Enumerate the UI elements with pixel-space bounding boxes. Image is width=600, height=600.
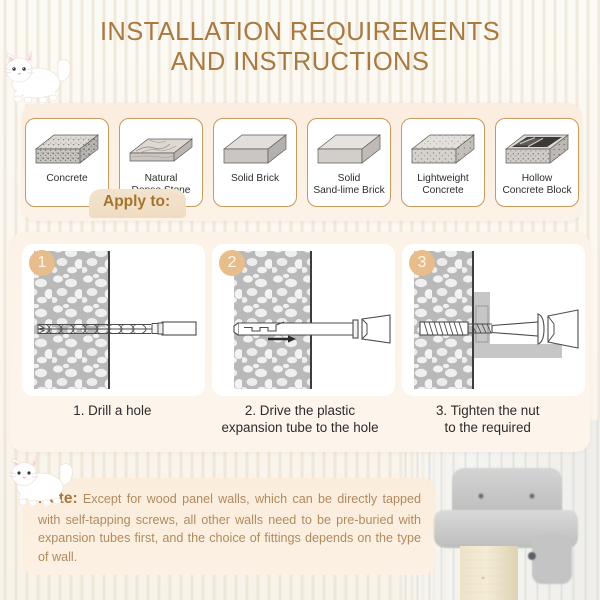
step-card-list: 1 2	[22, 244, 585, 396]
step-caption: 2. Drive the plasticexpansion tube to th…	[210, 402, 391, 436]
material-card[interactable]: Solid Brick	[213, 118, 297, 207]
sand-lime-brick-icon	[314, 126, 384, 170]
step-card[interactable]: 1	[22, 244, 205, 396]
material-card-label: SolidSand-lime Brick	[313, 173, 384, 197]
material-card[interactable]: SolidSand-lime Brick	[307, 118, 391, 207]
material-card-label: Concrete	[46, 173, 87, 185]
material-card[interactable]: HollowConcrete Block	[495, 118, 579, 207]
step-caption: 3. Tighten the nutto the required	[397, 402, 578, 436]
step-caption: 1. Drill a hole	[22, 402, 203, 436]
material-card-label: HollowConcrete Block	[502, 173, 571, 197]
cat-tree-perch-photo	[428, 452, 598, 600]
step-card[interactable]: 2	[212, 244, 395, 396]
material-card[interactable]: LightweightConcrete	[401, 118, 485, 207]
page-title-line-2: AND INSTRUCTIONS	[0, 48, 600, 78]
hollow-concrete-block-icon	[502, 126, 572, 170]
step-number-badge: 1	[29, 250, 55, 276]
step-number-badge: 3	[409, 250, 435, 276]
lightweight-concrete-icon	[408, 126, 478, 170]
page-title-line-1: INSTALLATION REQUIREMENTS	[0, 18, 600, 48]
white-cat-illustration	[8, 452, 80, 510]
natural-stone-slab-icon	[126, 126, 196, 170]
note-panel: Note: Except for wood panel walls, which…	[22, 478, 435, 575]
step-caption-list: 1. Drill a hole 2. Drive the plasticexpa…	[22, 402, 578, 436]
apply-to-label: Apply to:	[89, 189, 186, 218]
note-body: Except for wood panel walls, which can b…	[38, 492, 421, 564]
solid-brick-icon	[220, 126, 290, 170]
white-cat-illustration	[2, 46, 80, 108]
page-title: INSTALLATION REQUIREMENTS AND INSTRUCTIO…	[0, 18, 600, 77]
material-card-label: Solid Brick	[231, 173, 279, 185]
concrete-block-icon	[32, 126, 102, 170]
apply-to-panel: Concrete NaturalDense Stone	[22, 103, 582, 221]
step-number-badge: 2	[219, 250, 245, 276]
steps-panel: 1 2	[10, 232, 590, 452]
material-card-label: LightweightConcrete	[417, 173, 469, 197]
step-card[interactable]: 3	[402, 244, 585, 396]
